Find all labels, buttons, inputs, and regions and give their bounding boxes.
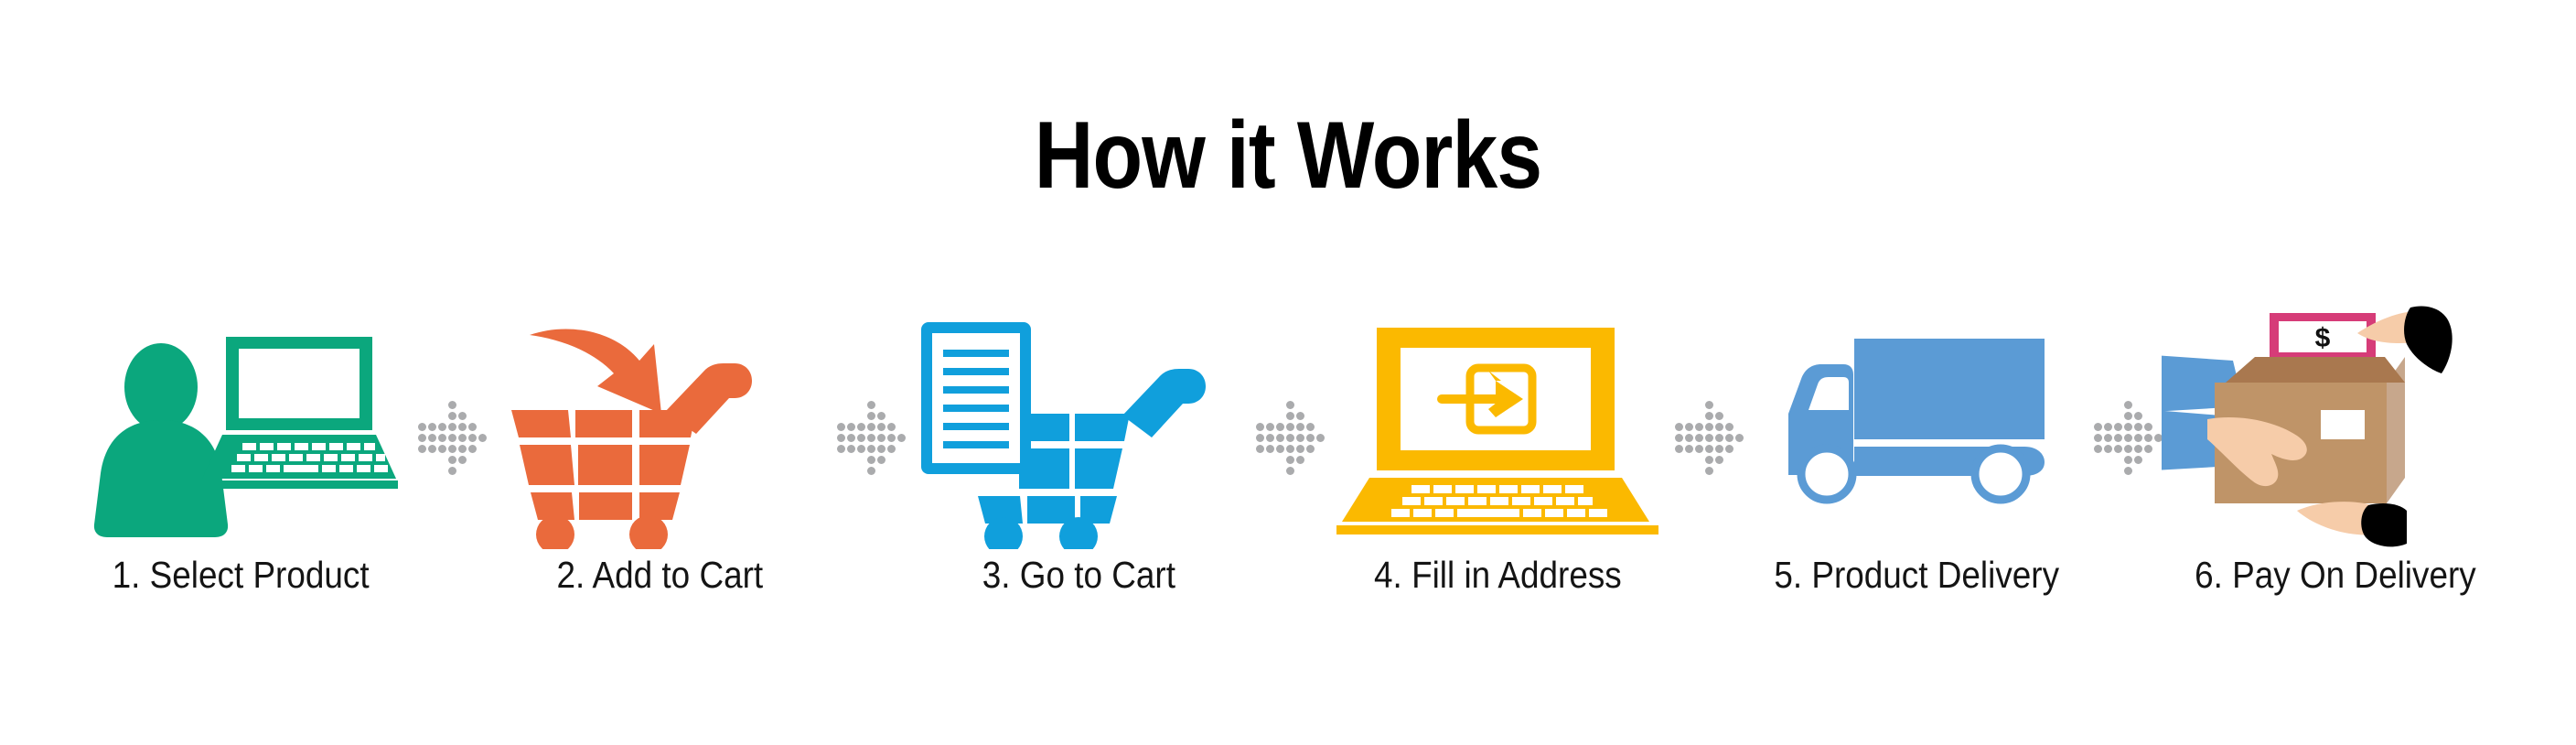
person-laptop-icon — [67, 302, 414, 549]
arrow-dot-grid — [1675, 401, 1741, 467]
step-label: 1. Select Product — [112, 553, 369, 597]
arrow-dot-grid — [1256, 401, 1322, 467]
how-it-works-infographic: How it Works — [0, 0, 2576, 745]
step-6-pay-on-delivery[interactable]: $ — [2162, 302, 2509, 650]
dotted-arrow-right-icon — [2090, 302, 2162, 650]
dotted-arrow-right-icon — [833, 302, 905, 650]
step-label: 4. Fill in Address — [1374, 553, 1622, 597]
money-symbol: $ — [2315, 323, 2331, 353]
step-label: 6. Pay On Delivery — [2195, 553, 2476, 597]
laptop-login-icon — [1324, 302, 1671, 549]
dotted-arrow-right-icon — [1252, 302, 1324, 650]
money-note: $ — [2270, 313, 2376, 361]
document-cart-icon — [905, 302, 1252, 549]
page-title: How it Works — [180, 108, 2396, 203]
arrow-dot-grid — [837, 401, 903, 467]
step-1-select-product[interactable]: 1. Select Product — [67, 302, 414, 650]
step-label: 3. Go to Cart — [982, 553, 1175, 597]
dotted-arrow-right-icon — [1671, 302, 1743, 650]
step-4-fill-in-address[interactable]: 4. Fill in Address — [1324, 302, 1671, 650]
step-label: 5. Product Delivery — [1774, 553, 2059, 597]
arrow-dot-grid — [418, 401, 484, 467]
step-label: 2. Add to Cart — [556, 553, 763, 597]
arrow-dot-grid — [2094, 401, 2160, 467]
hands-box-money-icon: $ — [2162, 302, 2509, 549]
step-3-go-to-cart[interactable]: 3. Go to Cart — [905, 302, 1252, 650]
steps-row: 1. Select Product — [0, 302, 2576, 650]
delivery-truck-icon — [1743, 302, 2090, 549]
cart-with-arrow-icon — [486, 302, 833, 549]
step-5-product-delivery[interactable]: 5. Product Delivery — [1743, 302, 2090, 650]
dotted-arrow-right-icon — [414, 302, 486, 650]
step-2-add-to-cart[interactable]: 2. Add to Cart — [486, 302, 833, 650]
